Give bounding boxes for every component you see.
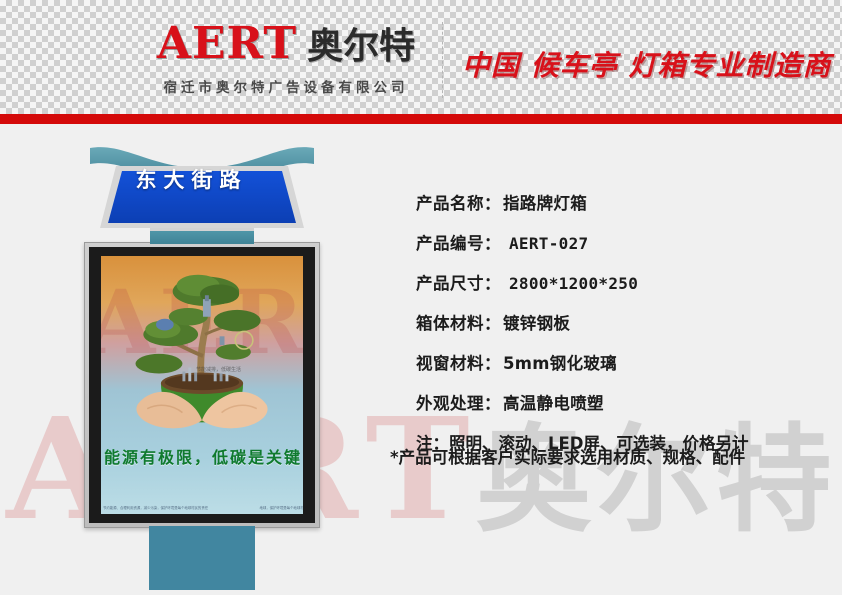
poster-footer-text: 节约能源、合理利用资源，减少污染，保护环境是每个地球村民的责任 地球，保护环境是… [103,505,303,510]
spec-label: 外观处理： [416,390,501,414]
content-stage: AERT 奥尔特 东大街路 [0,124,842,595]
lightbox-frame: AERT [84,242,320,528]
header-red-rule [0,114,842,124]
product-photo: 东大街路 AERT [84,138,320,590]
spec-value: 5mm钢化玻璃 [503,350,617,374]
spec-row: 箱体材料： 镀锌钢板 [416,310,836,334]
spec-row: 产品尺寸： 2800*1200*250 [416,270,836,294]
spec-label: 产品编号： [416,230,501,254]
logo-wordmark-row: AERT 奥尔特 [136,22,436,70]
spec-row: 外观处理： 高温静电喷塑 [416,390,836,414]
spec-row: 产品编号： AERT-027 [416,230,836,254]
company-name-subtitle: 宿迁市奥尔特广告设备有限公司 [136,76,436,96]
poster-footer-right: 地球，保护环境是每个地球村民 [260,505,303,510]
spec-label: 产品尺寸： [416,270,501,294]
poster-headline: 能源有极限，低碳是关键 [101,444,303,468]
spec-row: 产品名称： 指路牌灯箱 [416,190,836,214]
spec-value: 镀锌钢板 [503,310,570,334]
poster-artwork: AERT [101,256,303,514]
spec-footnote: *产品可根据客户实际要求选用材质、规格、配件 [390,444,745,468]
spec-label: 产品名称： [416,190,501,214]
pedestal-base [149,526,255,590]
logo-latin-text: AERT [157,22,297,66]
header-vertical-divider [442,22,443,98]
lightbox-inner-frame: AERT [89,247,315,523]
spec-label: 箱体材料： [416,310,501,334]
company-logo: AERT 奥尔特 宿迁市奥尔特广告设备有限公司 [136,22,436,96]
bonsai-in-hands-illustration [101,262,303,438]
page-header: AERT 奥尔特 宿迁市奥尔特广告设备有限公司 中国 候车亭 灯箱专业制造商 [0,0,842,114]
sign-neck-band [150,228,254,244]
spec-value: 高温静电喷塑 [503,390,604,414]
logo-chinese-text: 奥尔特 [307,29,415,65]
spec-row: 视窗材料： 5mm钢化玻璃 [416,350,836,374]
street-sign-text: 东大街路 [84,164,292,194]
poster-footer-left: 节约能源、合理利用资源，减少污染，保护环境是每个地球村民的责任 [103,505,208,510]
spec-label: 视窗材料： [416,350,501,374]
header-tagline: 中国 候车亭 灯箱专业制造商 [462,44,832,84]
spec-value: 指路牌灯箱 [503,190,587,214]
spec-value: AERT-027 [509,234,588,253]
spec-value: 2800*1200*250 [509,274,638,293]
poster-mid-caption: 节能减排，低碳生活 [196,366,241,373]
product-specifications: 产品名称： 指路牌灯箱 产品编号： AERT-027 产品尺寸： 2800*12… [416,190,836,454]
